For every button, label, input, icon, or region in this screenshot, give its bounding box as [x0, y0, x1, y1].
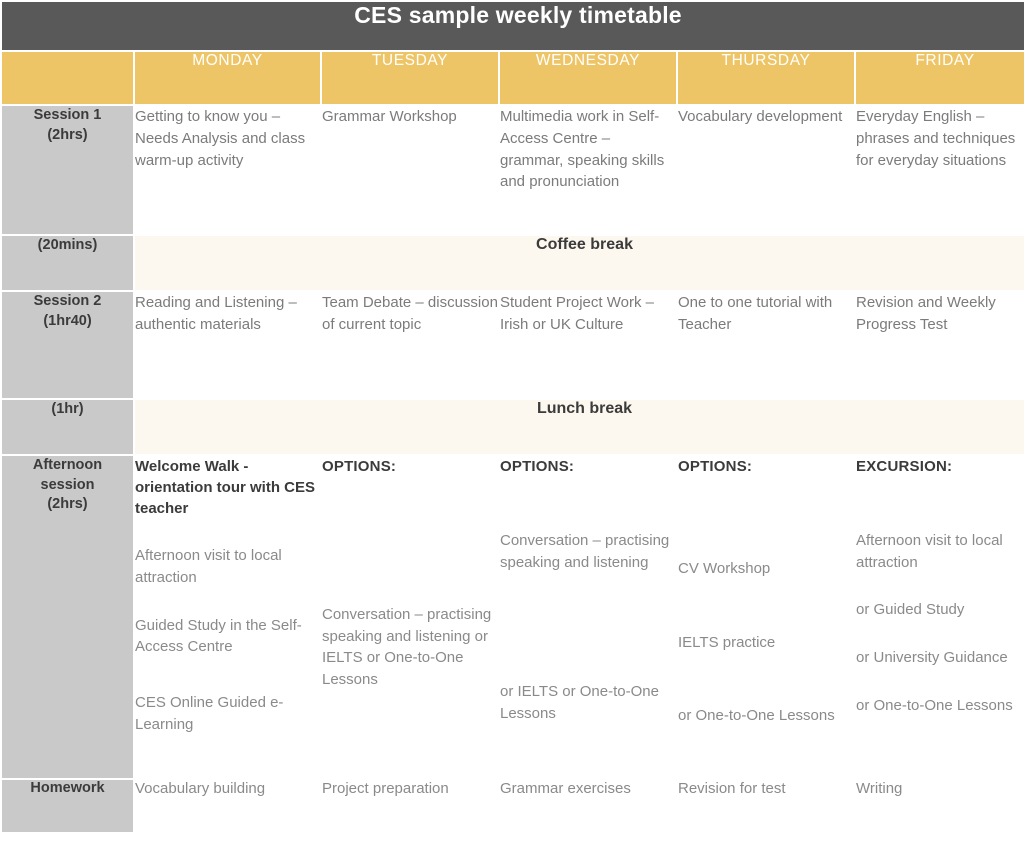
- row-label-lunch-break: (1hr): [2, 400, 133, 454]
- afternoon-tuesday-item-1: Conversation – practising speaking and l…: [322, 604, 498, 691]
- row-session-1: Session 1 (2hrs) Getting to know you – N…: [2, 106, 1024, 234]
- row-label-afternoon-line2: session: [2, 476, 133, 496]
- row-afternoon-session: Afternoon session (2hrs) Welcome Walk - …: [2, 456, 1024, 778]
- cell-afternoon-friday: EXCURSION: Afternoon visit to local attr…: [856, 456, 1024, 778]
- row-label-session-1-duration: (2hrs): [2, 126, 133, 146]
- row-label-session-2-duration: (1hr40): [2, 312, 133, 332]
- row-label-afternoon-session: Afternoon session (2hrs): [2, 456, 133, 778]
- afternoon-wednesday-item-2: or IELTS or One-to-One Lessons: [500, 681, 676, 725]
- cell-session1-friday: Everyday English – phrases and technique…: [856, 106, 1024, 234]
- afternoon-friday-item-4: or One-to-One Lessons: [856, 695, 1024, 717]
- afternoon-thursday-item-2: IELTS practice: [678, 632, 854, 654]
- cell-homework-friday: Writing: [856, 780, 1024, 832]
- cell-session2-thursday: One to one tutorial with Teacher: [678, 292, 854, 398]
- day-header-monday: MONDAY: [135, 52, 320, 104]
- spacer: [500, 504, 676, 530]
- day-header-wednesday: WEDNESDAY: [500, 52, 676, 104]
- cell-lunch-break: Lunch break: [135, 400, 1024, 454]
- cell-session1-wednesday: Multimedia work in Self-Access Centre – …: [500, 106, 676, 234]
- cell-coffee-break: Coffee break: [135, 236, 1024, 290]
- afternoon-wednesday-item-1: Conversation – practising speaking and l…: [500, 530, 676, 574]
- cell-homework-wednesday: Grammar exercises: [500, 780, 676, 832]
- row-label-afternoon-line3: (2hrs): [2, 495, 133, 515]
- spacer: [856, 504, 1024, 530]
- cell-homework-thursday: Revision for test: [678, 780, 854, 832]
- spacer: [678, 679, 854, 705]
- spacer: [678, 504, 854, 558]
- afternoon-monday-item-1: Afternoon visit to local attraction: [135, 545, 320, 589]
- day-header-tuesday: TUESDAY: [322, 52, 498, 104]
- afternoon-thursday-item-3: or One-to-One Lessons: [678, 705, 854, 727]
- row-label-session-2: Session 2 (1hr40): [2, 292, 133, 398]
- cell-homework-monday: Vocabulary building: [135, 780, 320, 832]
- row-session-2: Session 2 (1hr40) Reading and Listening …: [2, 292, 1024, 398]
- afternoon-monday-item-3: CES Online Guided e-Learning: [135, 692, 320, 736]
- cell-session1-tuesday: Grammar Workshop: [322, 106, 498, 234]
- row-coffee-break: (20mins) Coffee break: [2, 236, 1024, 290]
- spacer: [678, 606, 854, 632]
- afternoon-friday-item-2: or Guided Study: [856, 599, 1024, 621]
- cell-session2-tuesday: Team Debate – discussion of current topi…: [322, 292, 498, 398]
- afternoon-friday-item-3: or University Guidance: [856, 647, 1024, 669]
- row-label-session-1-name: Session 1: [2, 106, 133, 126]
- afternoon-friday-heading: EXCURSION:: [856, 456, 1024, 478]
- row-label-afternoon-line1: Afternoon: [2, 456, 133, 476]
- cell-session2-friday: Revision and Weekly Progress Test: [856, 292, 1024, 398]
- cell-afternoon-tuesday: OPTIONS: Conversation – practising speak…: [322, 456, 498, 778]
- afternoon-monday-highlight: Welcome Walk - orientation tour with CES…: [135, 456, 320, 519]
- day-header-thursday: THURSDAY: [678, 52, 854, 104]
- row-homework: Homework Vocabulary building Project pre…: [2, 780, 1024, 832]
- cell-session1-monday: Getting to know you – Needs Analysis and…: [135, 106, 320, 234]
- day-header-friday: FRIDAY: [856, 52, 1024, 104]
- title-row: CES sample weekly timetable: [2, 2, 1024, 50]
- afternoon-wednesday-heading: OPTIONS:: [500, 456, 676, 478]
- cell-afternoon-thursday: OPTIONS: CV Workshop IELTS practice or O…: [678, 456, 854, 778]
- cell-session2-monday: Reading and Listening – authentic materi…: [135, 292, 320, 398]
- cell-session2-wednesday: Student Project Work – Irish or UK Cultu…: [500, 292, 676, 398]
- afternoon-thursday-item-1: CV Workshop: [678, 558, 854, 580]
- page-title: CES sample weekly timetable: [2, 2, 1024, 50]
- afternoon-friday-item-1: Afternoon visit to local attraction: [856, 530, 1024, 574]
- afternoon-thursday-heading: OPTIONS:: [678, 456, 854, 478]
- row-label-session-1: Session 1 (2hrs): [2, 106, 133, 234]
- row-label-session-2-name: Session 2: [2, 292, 133, 312]
- row-label-coffee-break: (20mins): [2, 236, 133, 290]
- cell-afternoon-wednesday: OPTIONS: Conversation – practising speak…: [500, 456, 676, 778]
- spacer: [135, 684, 320, 692]
- weekly-timetable: CES sample weekly timetable MONDAY TUESD…: [0, 0, 1024, 834]
- afternoon-tuesday-heading: OPTIONS:: [322, 456, 498, 478]
- cell-afternoon-monday: Welcome Walk - orientation tour with CES…: [135, 456, 320, 778]
- cell-session1-thursday: Vocabulary development: [678, 106, 854, 234]
- day-header-row: MONDAY TUESDAY WEDNESDAY THURSDAY FRIDAY: [2, 52, 1024, 104]
- spacer: [500, 599, 676, 681]
- row-label-homework: Homework: [2, 780, 133, 832]
- cell-homework-tuesday: Project preparation: [322, 780, 498, 832]
- spacer: [322, 504, 498, 604]
- corner-header-cell: [2, 52, 133, 104]
- row-lunch-break: (1hr) Lunch break: [2, 400, 1024, 454]
- afternoon-monday-item-2: Guided Study in the Self-Access Centre: [135, 615, 320, 659]
